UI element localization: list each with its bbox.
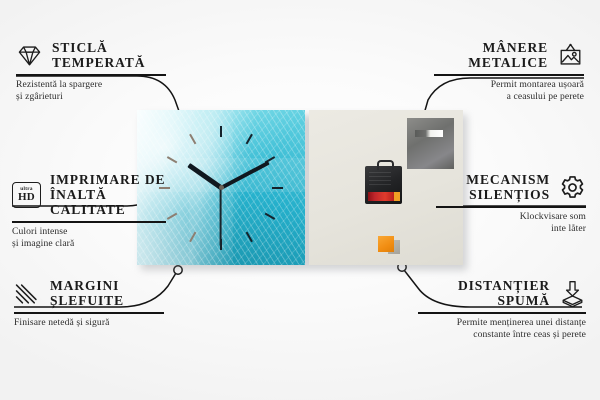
feature-subtitle: Permit montarea ușoară — [434, 79, 584, 91]
feature-title-2: ȘLEFUITE — [50, 293, 124, 308]
mechanism-detail — [369, 172, 391, 186]
feature-subtitle: Rezistentă la spargere — [16, 79, 166, 91]
feature-title-2: ÎNALTĂ CALITATE — [50, 187, 177, 217]
feature-subtitle-2: și imagine clară — [12, 238, 177, 250]
feature-title: STICLĂ — [52, 40, 145, 55]
infographic-canvas: STICLĂ TEMPERATĂ Rezistentă la spargere … — [0, 0, 600, 400]
feature-subtitle-2: și zgârieturi — [16, 91, 166, 103]
battery-plus-terminal — [394, 192, 400, 201]
metal-hanger-plate — [407, 118, 454, 169]
underline — [14, 312, 164, 314]
feature-title: MECANISM — [466, 172, 550, 187]
feature-title-2: SPUMĂ — [458, 293, 550, 308]
underline — [436, 206, 586, 208]
picture-hanger-icon — [557, 42, 584, 69]
hour-tick-3 — [221, 187, 283, 189]
hd-badge-main-text: HD — [18, 192, 35, 203]
hanger-slot — [415, 130, 443, 137]
feature-title: MÂNERE — [468, 40, 548, 55]
feature-subtitle: Permite menținerea unei distanțe — [418, 317, 586, 329]
gear-icon — [559, 174, 586, 201]
hour-tick-12 — [220, 126, 222, 188]
feature-subtitle: Klockvisare som — [436, 211, 586, 223]
diagonal-lines-icon — [14, 280, 41, 307]
feature-polished-edges: MARGINI ȘLEFUITE Finisare netedă și sigu… — [14, 278, 164, 329]
feature-title-2: SILENȚIOS — [466, 187, 550, 202]
foam-spacer — [378, 236, 394, 252]
feature-subtitle-text: Culori intense — [12, 226, 68, 237]
feature-subtitle-2: inte låter — [436, 223, 586, 235]
underline — [16, 74, 166, 76]
underline — [434, 74, 584, 76]
feature-tempered-glass: STICLĂ TEMPERATĂ Rezistentă la spargere … — [16, 40, 166, 104]
feature-subtitle-2: constante între ceas și perete — [418, 329, 586, 341]
clock-mechanism — [365, 166, 402, 204]
press-down-layers-icon — [559, 280, 586, 307]
underline — [418, 312, 586, 314]
feature-silent-mechanism: MECANISM SILENȚIOS Klockvisare som inte … — [436, 172, 586, 236]
product-image — [137, 110, 463, 265]
feature-title: MARGINI — [50, 278, 124, 293]
feature-title-2: TEMPERATĂ — [52, 55, 145, 70]
clock-center-cap — [219, 185, 224, 190]
feature-subtitle-2: a ceasului pe perete — [434, 91, 584, 103]
feature-subtitle: Culori intense — [12, 226, 177, 238]
feature-subtitle: Finisare netedă și sigură — [14, 317, 164, 329]
second-hand — [220, 188, 222, 246]
hour-hand — [187, 163, 223, 190]
feature-title: IMPRIMARE DE — [50, 172, 177, 187]
feature-title-2: METALICE — [468, 55, 548, 70]
feature-title: DISTANȚIER — [458, 278, 550, 293]
mechanism-hanger-loop — [377, 160, 394, 170]
diamond-icon — [16, 42, 43, 69]
feature-metal-handles: MÂNERE METALICE Permit montarea ușoară a… — [434, 40, 584, 104]
feature-high-quality-print: ultra HD IMPRIMARE DE ÎNALTĂ CALITATE Cu… — [12, 172, 177, 251]
underline — [12, 221, 166, 223]
feature-foam-spacer: DISTANȚIER SPUMĂ Permite menținerea unei… — [418, 278, 586, 342]
ultra-hd-badge-icon: ultra HD — [12, 182, 41, 208]
